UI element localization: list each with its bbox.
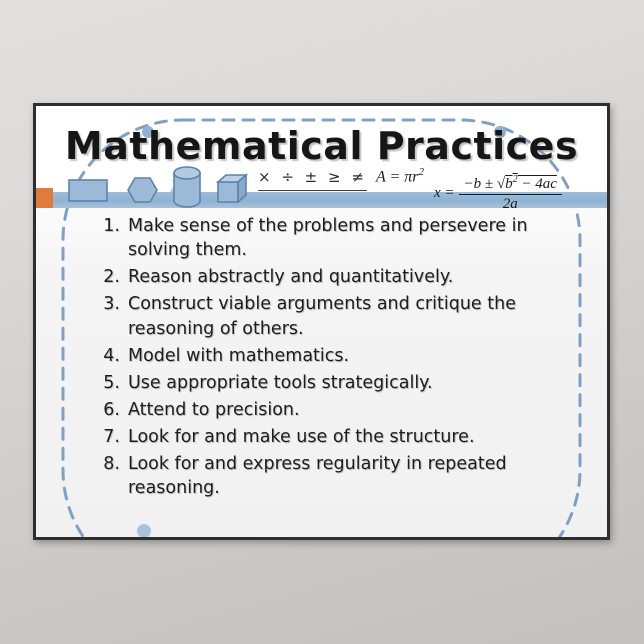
cube-shape-icon (218, 175, 246, 202)
list-item-text: Look for and express regularity in repea… (128, 452, 571, 500)
list-item: 3.Construct viable arguments and critiqu… (96, 292, 571, 340)
formula-quadratic-numerator: −b ± √b2 − 4ac (459, 174, 562, 195)
list-item: 6.Attend to precision. (96, 398, 571, 422)
list-item-number: 5. (96, 371, 120, 395)
formula-quadratic: x = −b ± √b2 − 4ac 2a (434, 174, 562, 213)
formula-area-rhs: πr (404, 168, 418, 185)
list-item: 2.Reason abstractly and quantitatively. (96, 265, 571, 289)
list-item-text: Construct viable arguments and critique … (128, 292, 571, 340)
list-item: 1.Make sense of the problems and perseve… (96, 214, 571, 262)
list-item: 5.Use appropriate tools strategically. (96, 371, 571, 395)
numerator-radicand: b2 − 4ac (505, 176, 557, 192)
list-item-number: 3. (96, 292, 120, 316)
list-item-text: Make sense of the problems and persevere… (128, 214, 571, 262)
list-item: 8.Look for and express regularity in rep… (96, 452, 571, 500)
formula-quadratic-lhs: x = (434, 185, 455, 202)
list-item: 4.Model with mathematics. (96, 344, 571, 368)
formula-quadratic-denominator: 2a (503, 195, 518, 213)
math-symbols: × ÷ ± ≥ ≠ (258, 168, 367, 191)
banner-accent-block (36, 188, 53, 208)
list-item-number: 6. (96, 398, 120, 422)
formula-area-lhs: A = (376, 168, 404, 185)
radicand-base: b (505, 176, 513, 192)
list-item-text: Use appropriate tools strategically. (128, 371, 571, 395)
practices-list: 1.Make sense of the problems and perseve… (96, 214, 571, 504)
decor-dot-bottom (137, 524, 151, 537)
poster-canvas: Mathematical Practices (36, 106, 607, 537)
list-item-number: 1. (96, 214, 120, 238)
formula-area-of-circle: A = πr2 (376, 166, 424, 186)
list-item-text: Attend to precision. (128, 398, 571, 422)
page-title: Mathematical Practices (36, 124, 607, 168)
list-item: 7.Look for and make use of the structure… (96, 425, 571, 449)
radicand-rest: − 4ac (518, 176, 557, 192)
list-item-number: 7. (96, 425, 120, 449)
list-item-text: Reason abstractly and quantitatively. (128, 265, 571, 289)
list-item-number: 2. (96, 265, 120, 289)
formula-quadratic-fraction: −b ± √b2 − 4ac 2a (459, 174, 562, 213)
cylinder-shape-icon (174, 167, 200, 207)
hexagon-shape-icon (128, 178, 157, 202)
list-item-number: 4. (96, 344, 120, 368)
numerator-prefix: −b ± (464, 176, 497, 192)
list-item-number: 8. (96, 452, 120, 476)
poster: Mathematical Practices (33, 103, 610, 540)
shapes-row (66, 164, 256, 208)
list-item-text: Model with mathematics. (128, 344, 571, 368)
rectangle-shape-icon (69, 180, 107, 201)
list-item-text: Look for and make use of the structure. (128, 425, 571, 449)
